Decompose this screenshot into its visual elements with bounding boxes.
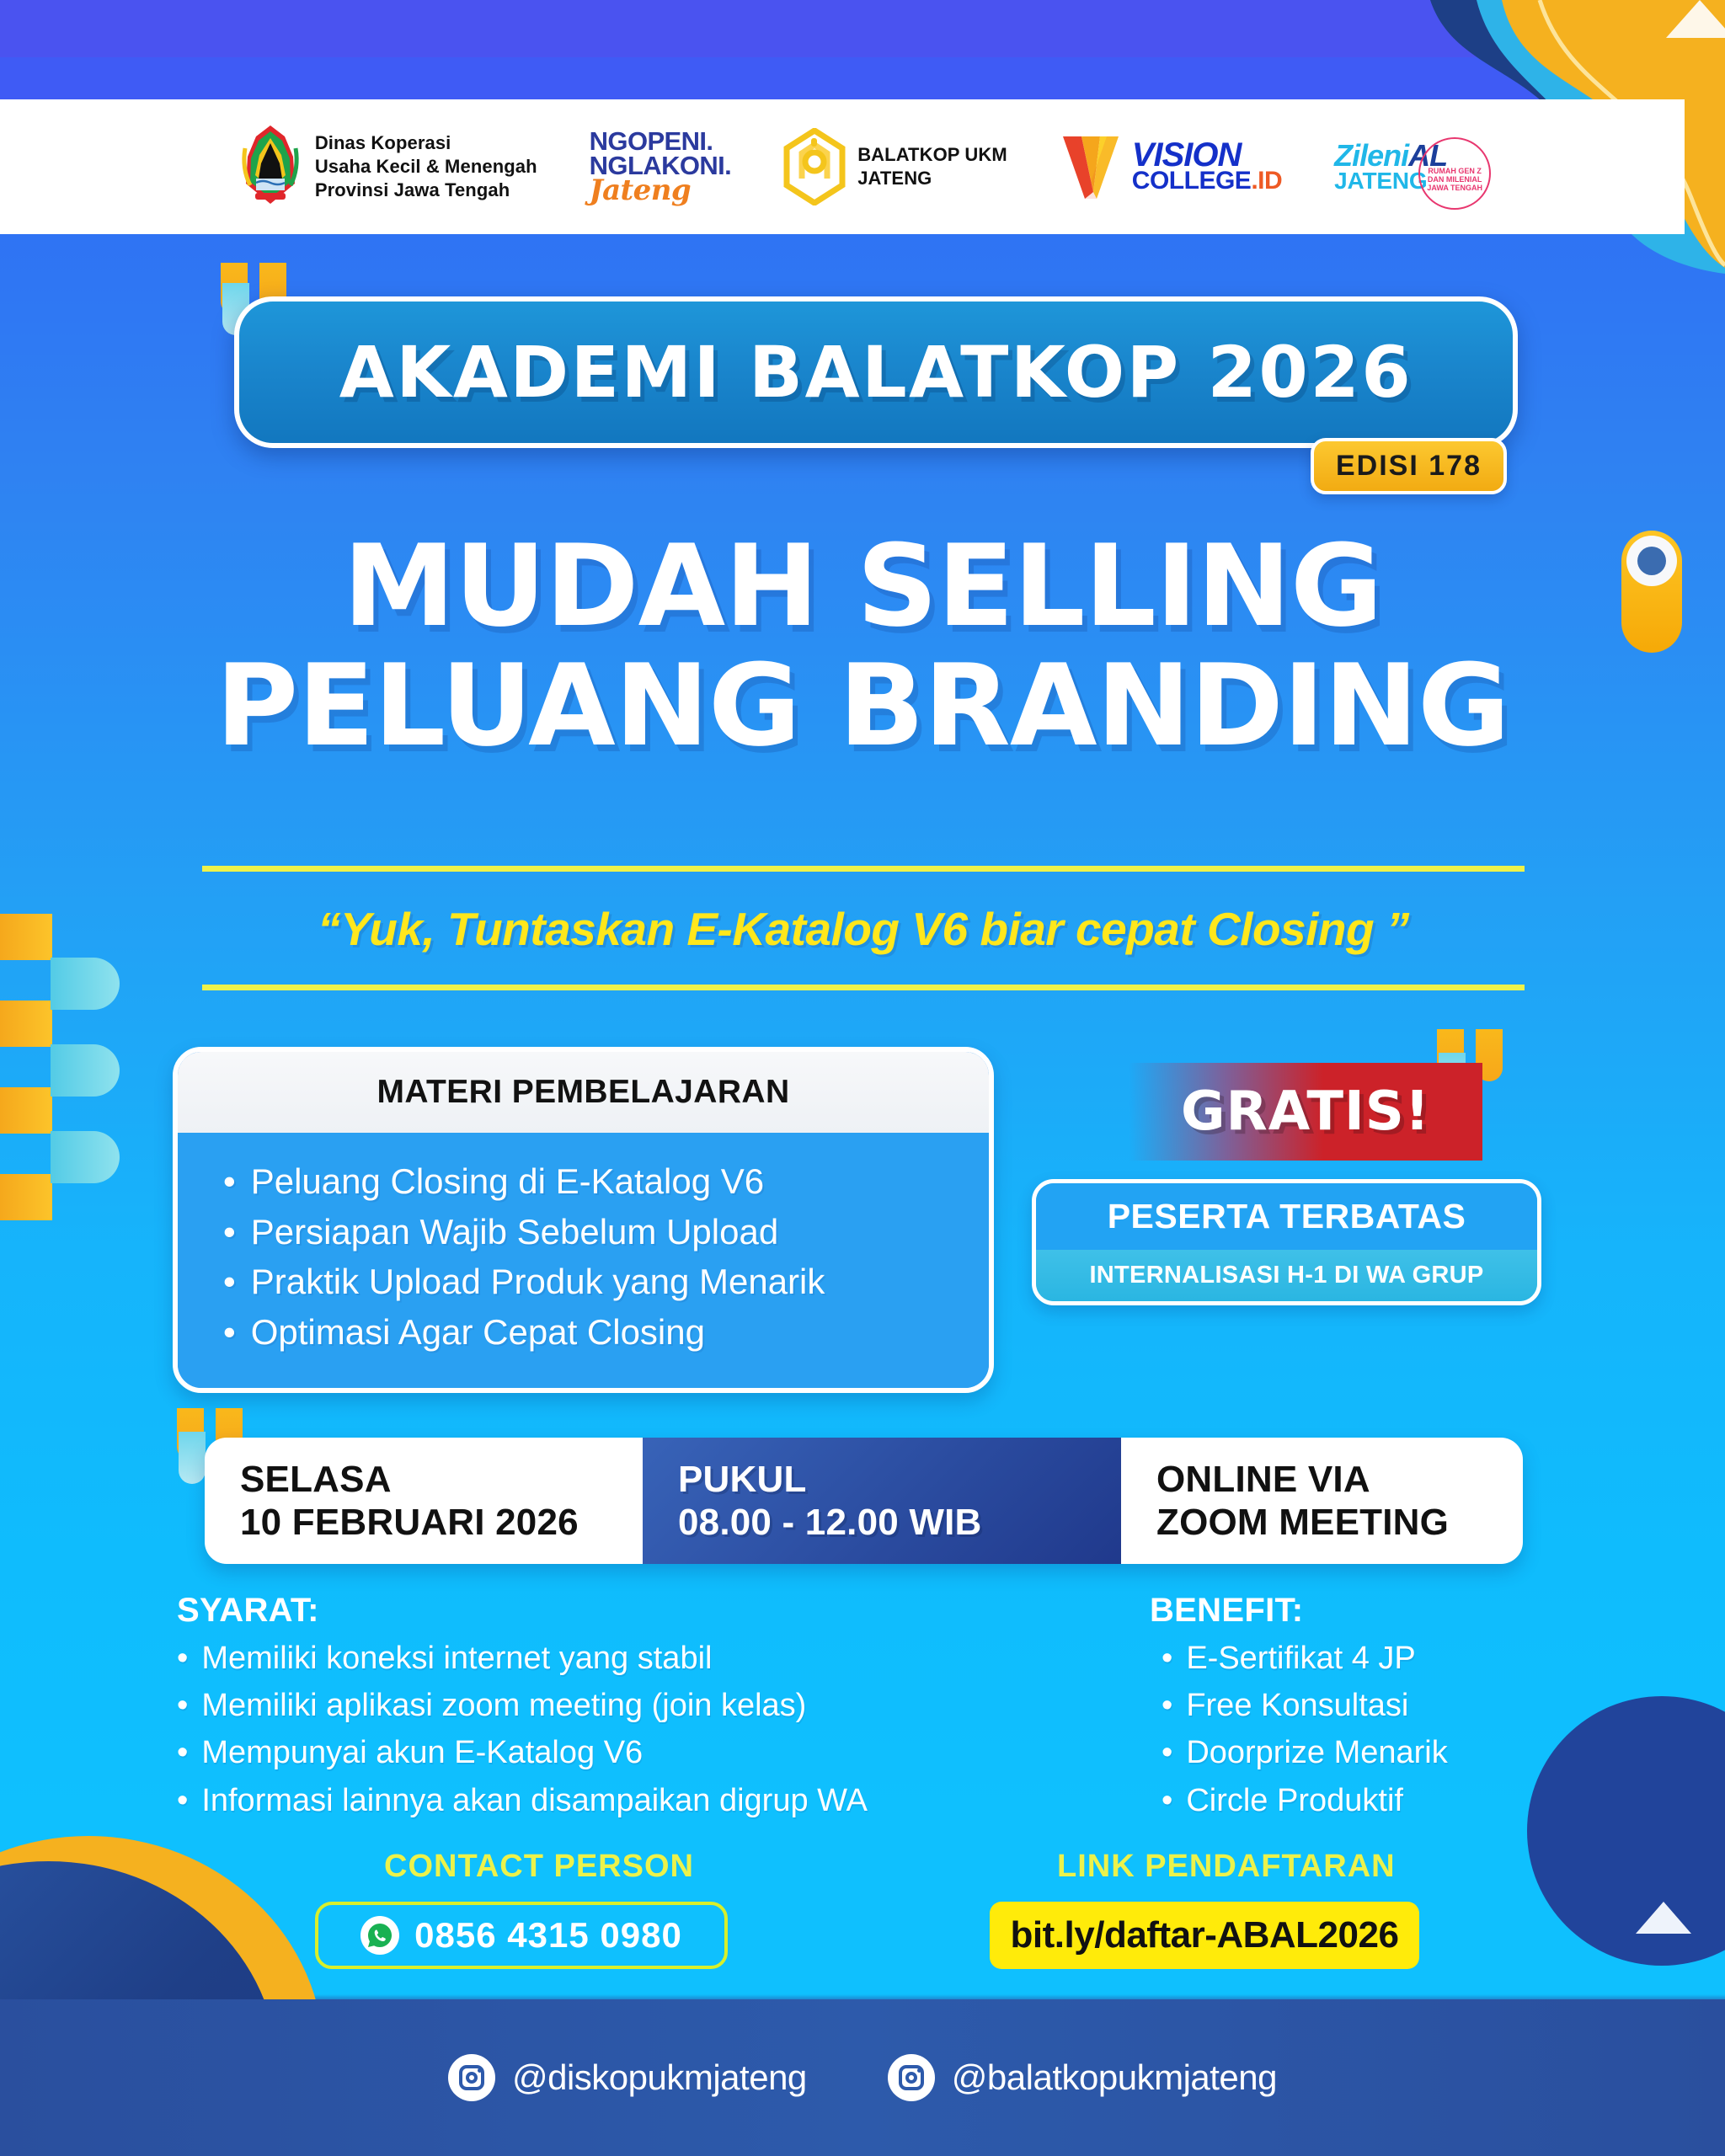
jawa-tengah-crest-icon	[238, 123, 303, 211]
top-blue-band	[0, 0, 1725, 57]
contact-phone-number: 0856 4315 0980	[414, 1915, 682, 1956]
quote-block: “Yuk, Tuntaskan E-Katalog V6 biar cepat …	[202, 866, 1525, 990]
list-item: Free Konsultasi	[1162, 1682, 1697, 1729]
logo-line-3: Provinsi Jawa Tengah	[315, 179, 537, 202]
logo-vision-text: VISION COLLEGE.ID	[1132, 141, 1282, 193]
logo-header-bar: Dinas Koperasi Usaha Kecil & Menengah Pr…	[0, 99, 1685, 234]
logo-balatkop: BALATKOP UKM JATENG	[783, 128, 1007, 205]
logo-line-2: Usaha Kecil & Menengah	[315, 155, 537, 179]
syarat-section: SYARAT: Memiliki koneksi internet yang s…	[177, 1592, 1070, 1824]
balatkop-line-1: BALATKOP UKM	[857, 143, 1007, 167]
poster-canvas: Dinas Koperasi Usaha Kecil & Menengah Pr…	[0, 0, 1725, 2156]
schedule-time-value: 08.00 - 12.00 WIB	[678, 1501, 1121, 1544]
balatkop-line-2: JATENG	[857, 167, 1007, 190]
schedule-platform-label: ONLINE VIA	[1156, 1458, 1523, 1501]
list-item: Optimasi Agar Cepat Closing	[223, 1307, 989, 1358]
schedule-date-cell: SELASA 10 FEBRUARI 2026	[205, 1438, 643, 1564]
logo-balatkop-text: BALATKOP UKM JATENG	[857, 143, 1007, 190]
materi-card-header: MATERI PEMBELAJARAN	[178, 1052, 989, 1133]
list-item: Doorprize Menarik	[1162, 1729, 1697, 1776]
peserta-terbatas-label: PESERTA TERBATAS	[1036, 1183, 1537, 1250]
pill-marker-icon	[1621, 531, 1682, 653]
logo-dinas-koperasi: Dinas Koperasi Usaha Kecil & Menengah Pr…	[238, 123, 537, 211]
logo-zilenial-jateng: ZileniAL JATENG RUMAH GEN Z DAN MILENIAL…	[1334, 142, 1447, 191]
contact-phone-button[interactable]: 0856 4315 0980	[315, 1902, 728, 1969]
peserta-terbatas-box: PESERTA TERBATAS INTERNALISASI H-1 DI WA…	[1032, 1179, 1541, 1305]
schedule-date: 10 FEBRUARI 2026	[240, 1501, 643, 1544]
list-item: Persiapan Wajib Sebelum Upload	[223, 1207, 989, 1257]
syarat-label: SYARAT:	[177, 1592, 1070, 1630]
schedule-time-label: PUKUL	[678, 1458, 1121, 1501]
headline-block: MUDAH SELLING PELUANG BRANDING	[0, 526, 1725, 766]
list-item: Memiliki koneksi internet yang stabil	[177, 1635, 1070, 1682]
footer-bar: @diskopukmjateng @balatkopukmjateng	[0, 1999, 1725, 2156]
vision-line-2: COLLEGE	[1132, 167, 1252, 195]
vision-line-3: .ID	[1251, 167, 1282, 195]
registration-link-button[interactable]: bit.ly/daftar-ABAL2026	[990, 1902, 1419, 1969]
gratis-label: GRATIS!	[1181, 1081, 1430, 1143]
logo-line-1: Dinas Koperasi	[315, 131, 537, 155]
datebar-quote-mark-blue	[179, 1432, 206, 1484]
schedule-time-cell: PUKUL 08.00 - 12.00 WIB	[643, 1438, 1121, 1564]
zilenial-ring-text: RUMAH GEN Z DAN MILENIAL JAWA TENGAH	[1420, 168, 1489, 193]
benefit-label: BENEFIT:	[1150, 1592, 1697, 1630]
quote-text: “Yuk, Tuntaskan E-Katalog V6 biar cepat …	[202, 872, 1525, 985]
materi-card: MATERI PEMBELAJARAN Peluang Closing di E…	[173, 1047, 994, 1393]
internalisasi-label: INTERNALISASI H-1 DI WA GRUP	[1036, 1250, 1537, 1301]
top-right-triangle-decoration	[1666, 0, 1725, 38]
headline-line-1: MUDAH SELLING	[0, 526, 1725, 646]
instagram-icon	[448, 2054, 495, 2101]
logo-dinas-koperasi-text: Dinas Koperasi Usaha Kecil & Menengah Pr…	[315, 131, 537, 202]
list-item: Mempunyai akun E-Katalog V6	[177, 1729, 1070, 1776]
balatkop-shield-icon	[783, 128, 846, 205]
title-plate: AKADEMI BALATKOP 2026	[234, 296, 1518, 448]
materi-heading: MATERI PEMBELAJARAN	[178, 1074, 989, 1111]
list-item: Circle Produktif	[1162, 1777, 1697, 1824]
page-title: AKADEMI BALATKOP 2026	[339, 331, 1413, 414]
list-item: E-Sertifikat 4 JP	[1162, 1635, 1697, 1682]
vision-line-1: VISION	[1132, 141, 1282, 170]
instagram-icon	[888, 2054, 935, 2101]
ngopeni-jateng-script: Jateng	[590, 178, 732, 205]
syarat-list: Memiliki koneksi internet yang stabil Me…	[177, 1635, 1070, 1824]
logo-vision-college: VISION COLLEGE.ID	[1060, 131, 1282, 202]
quote-rule-bottom	[202, 985, 1525, 990]
list-item: Informasi lainnya akan disampaikan digru…	[177, 1777, 1070, 1824]
whatsapp-icon	[360, 1916, 399, 1955]
schedule-platform-cell: ONLINE VIA ZOOM MEETING	[1121, 1438, 1523, 1564]
instagram-handle-1[interactable]: @diskopukmjateng	[448, 2054, 807, 2101]
ngopeni-line-1: NGOPENI.	[590, 129, 732, 153]
link-pendaftaran-label: LINK PENDAFTARAN	[1057, 1849, 1396, 1885]
contact-person-label: CONTACT PERSON	[384, 1849, 694, 1885]
benefit-list: E-Sertifikat 4 JP Free Konsultasi Doorpr…	[1150, 1635, 1697, 1824]
logo-ngopeni-nglakoni: NGOPENI. NGLAKONI. Jateng	[590, 129, 732, 205]
bottom-right-white-triangle	[1636, 1902, 1691, 1934]
list-item: Memiliki aplikasi zoom meeting (join kel…	[177, 1682, 1070, 1729]
schedule-platform-value: ZOOM MEETING	[1156, 1501, 1523, 1544]
instagram-handle-2[interactable]: @balatkopukmjateng	[888, 2054, 1277, 2101]
gratis-banner: GRATIS!	[1129, 1063, 1482, 1161]
left-edge-decoration	[0, 914, 122, 1261]
schedule-bar: SELASA 10 FEBRUARI 2026 PUKUL 08.00 - 12…	[205, 1438, 1523, 1564]
list-item: Peluang Closing di E-Katalog V6	[223, 1156, 989, 1207]
list-item: Praktik Upload Produk yang Menarik	[223, 1257, 989, 1307]
instagram-handle-1-text: @diskopukmjateng	[512, 2057, 807, 2098]
vision-v-icon	[1060, 131, 1125, 202]
materi-list: Peluang Closing di E-Katalog V6 Persiapa…	[178, 1133, 989, 1388]
benefit-section: BENEFIT: E-Sertifikat 4 JP Free Konsulta…	[1150, 1592, 1697, 1824]
edition-badge: EDISI 178	[1311, 438, 1507, 494]
registration-link-text: bit.ly/daftar-ABAL2026	[1011, 1914, 1399, 1956]
instagram-handle-2-text: @balatkopukmjateng	[952, 2057, 1277, 2098]
headline-line-2: PELUANG BRANDING	[0, 646, 1725, 766]
quote-rule-top	[202, 866, 1525, 872]
schedule-day: SELASA	[240, 1458, 643, 1501]
